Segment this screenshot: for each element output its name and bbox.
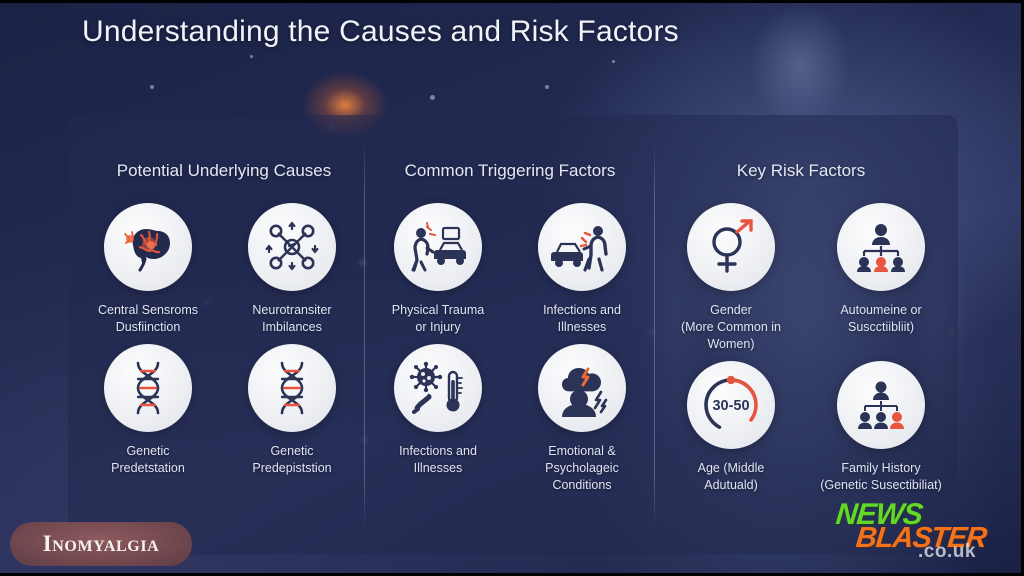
icon-grid: Gender (More Common in Women) — [656, 203, 956, 493]
watermark-inomyalgia: Inomyalgia — [10, 522, 192, 566]
grid-item-label: Infections and Illnesses — [519, 302, 645, 336]
column-heading: Common Triggering Factors — [366, 161, 654, 181]
particle-dot — [430, 95, 435, 100]
grid-item[interactable]: Neurotransiter Imbilances — [220, 203, 364, 336]
virus-thermometer-icon — [394, 344, 482, 432]
column-heading: Key Risk Factors — [656, 161, 956, 181]
car-accident-whiplash-icon — [394, 203, 482, 291]
grid-item-label: Family History (Genetic Susectibiliat) — [810, 460, 952, 494]
letterbox-bar-top — [0, 0, 1024, 3]
column-common-triggering-factors: Common Triggering Factors — [366, 115, 654, 555]
grid-item-label: Emotional & Psycholageic Conditions — [519, 443, 645, 494]
family-history-icon — [837, 361, 925, 449]
grid-item-label: Central Sensroms Dusfiinction — [85, 302, 211, 336]
autoimmune-group-icon — [837, 203, 925, 291]
particle-dot — [250, 55, 253, 58]
brain-icon — [104, 203, 192, 291]
watermark-left-text: Inomyalgia — [43, 531, 160, 557]
slide-canvas: Understanding the Causes and Risk Factor… — [0, 0, 1024, 576]
grid-item-label: Physical Trauma or Injury — [375, 302, 501, 336]
grid-item[interactable]: Genetic Predetstation — [76, 344, 220, 477]
grid-item-label: Neurotransiter Imbilances — [229, 302, 355, 336]
grid-item[interactable]: Gender (More Common in Women) — [656, 203, 806, 353]
particle-dot — [545, 85, 549, 89]
grid-item[interactable]: Infections and Illnesses — [366, 344, 510, 494]
column-divider — [364, 141, 365, 529]
particle-dot — [150, 85, 154, 89]
content-panel: Potential Underlying Causes — [68, 115, 958, 555]
grid-item[interactable]: Family History (Genetic Susectibiliat) — [806, 361, 956, 494]
grid-item-label: Autoumeine or Suscctiibliit) — [810, 302, 952, 336]
grid-item[interactable]: Autoumeine or Suscctiibliit) — [806, 203, 956, 353]
column-key-risk-factors: Key Risk Factors — [656, 115, 956, 555]
grid-item[interactable]: Infections and Illnesses — [510, 203, 654, 336]
neurotransmitter-molecule-icon — [248, 203, 336, 291]
age-gauge-icon: 30-50 — [687, 361, 775, 449]
grid-item[interactable]: 30-50 Age (Middle Adutuald) — [656, 361, 806, 494]
grid-item-label: Genetic Predetstation — [85, 443, 211, 477]
particle-dot — [612, 60, 615, 63]
storm-cloud-head-icon — [538, 344, 626, 432]
icon-grid: Central Sensroms Dusfiinction — [76, 203, 364, 477]
column-divider — [654, 141, 655, 529]
grid-item[interactable]: Physical Trauma or Injury — [366, 203, 510, 336]
column-potential-underlying-causes: Potential Underlying Causes — [76, 115, 364, 555]
icon-grid: Physical Trauma or Injury — [366, 203, 654, 493]
grid-item-label: Infections and Illnesses — [375, 443, 501, 477]
dna-helix-icon — [248, 344, 336, 432]
page-title: Understanding the Causes and Risk Factor… — [82, 15, 679, 49]
grid-item-label: Age (Middle Adutuald) — [660, 460, 802, 494]
grid-item-label: Gender (More Common in Women) — [660, 302, 802, 353]
grid-item-label: Genetic Predepiststion — [229, 443, 355, 477]
grid-item[interactable]: Central Sensroms Dusfiinction — [76, 203, 220, 336]
grid-item[interactable]: Emotional & Psycholageic Conditions — [510, 344, 654, 494]
column-heading: Potential Underlying Causes — [76, 161, 364, 181]
grid-item[interactable]: Genetic Predepiststion — [220, 344, 364, 477]
watermark-newsblaster: NEWS BLASTER .co.uk — [822, 496, 1012, 568]
gender-symbols-icon — [687, 203, 775, 291]
watermark-tld-text: .co.uk — [918, 541, 976, 563]
dna-helix-icon — [104, 344, 192, 432]
age-gauge-value: 30-50 — [712, 398, 749, 414]
car-collision-injury-icon — [538, 203, 626, 291]
